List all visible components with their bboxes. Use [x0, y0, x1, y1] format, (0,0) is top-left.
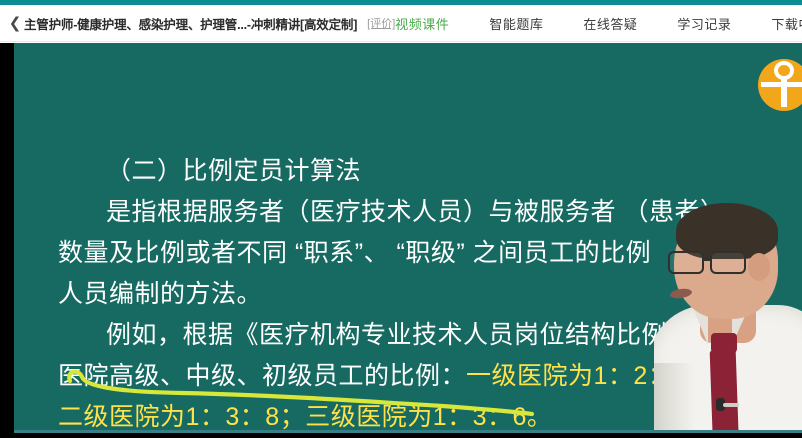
- back-chevron-left-icon[interactable]: ❮: [6, 16, 24, 31]
- slide-line-2: 是指根据服务者（医疗技术人员）与被服务者 （患者）: [58, 192, 758, 233]
- nav-item-download-center[interactable]: 下载中心: [771, 14, 802, 33]
- nav-item-smart-question-bank[interactable]: 智能题库: [489, 14, 543, 33]
- instructor-video-overlay: [654, 193, 802, 433]
- nav-item-study-record[interactable]: 学习记录: [677, 14, 731, 33]
- medical-cross-circle-logo-icon: [758, 59, 802, 111]
- rate-course-link[interactable]: [评价]: [367, 15, 395, 31]
- nav-item-online-qa[interactable]: 在线答疑: [583, 14, 637, 33]
- video-stage[interactable]: （二）比例定员计算法 是指根据服务者（医疗技术人员）与被服务者 （患者） 数量及…: [0, 43, 802, 438]
- video-course-player-page: ❮ 主管护师-健康护理、感染护理、护理管...-冲刺精讲[高效定制] [评价] …: [0, 0, 802, 438]
- course-title[interactable]: 主管护师-健康护理、感染护理、护理管...-冲刺精讲[高效定制]: [24, 14, 357, 33]
- slide-text-block: （二）比例定员计算法 是指根据服务者（医疗技术人员）与被服务者 （患者） 数量及…: [58, 151, 758, 433]
- glasses-icon: [668, 251, 752, 275]
- page-header: ❮ 主管护师-健康护理、感染护理、护理管...-冲刺精讲[高效定制] [评价] …: [0, 5, 802, 42]
- slide-line-6: 医院高级、中级、初级员工的比例：一级医院为1：2：: [58, 356, 758, 397]
- slide-line-7: 二级医院为1：3：8；三级医院为1：3：6。: [58, 397, 758, 433]
- slide-line-3: 数量及比例或者不同 “职系”、 “职级” 之间员工的比例: [58, 233, 758, 274]
- slide-line-4: 人员编制的方法。: [58, 274, 758, 315]
- slide-line-6-main: 医院高级、中级、初级员工的比例：: [58, 362, 466, 390]
- slide-line-1: （二）比例定员计算法: [58, 151, 758, 192]
- slide-line-5: 例如，根据《医疗机构专业技术人员岗位结构比例原则: [58, 315, 758, 356]
- lecture-slide: （二）比例定员计算法 是指根据服务者（医疗技术人员）与被服务者 （患者） 数量及…: [14, 43, 802, 433]
- main-nav: 视频课件 智能题库 在线答疑 学习记录 下载中心: [395, 14, 802, 33]
- slide-line-6-highlight: 一级医院为1：2：: [466, 362, 673, 390]
- nav-item-video-courseware[interactable]: 视频课件: [395, 14, 449, 33]
